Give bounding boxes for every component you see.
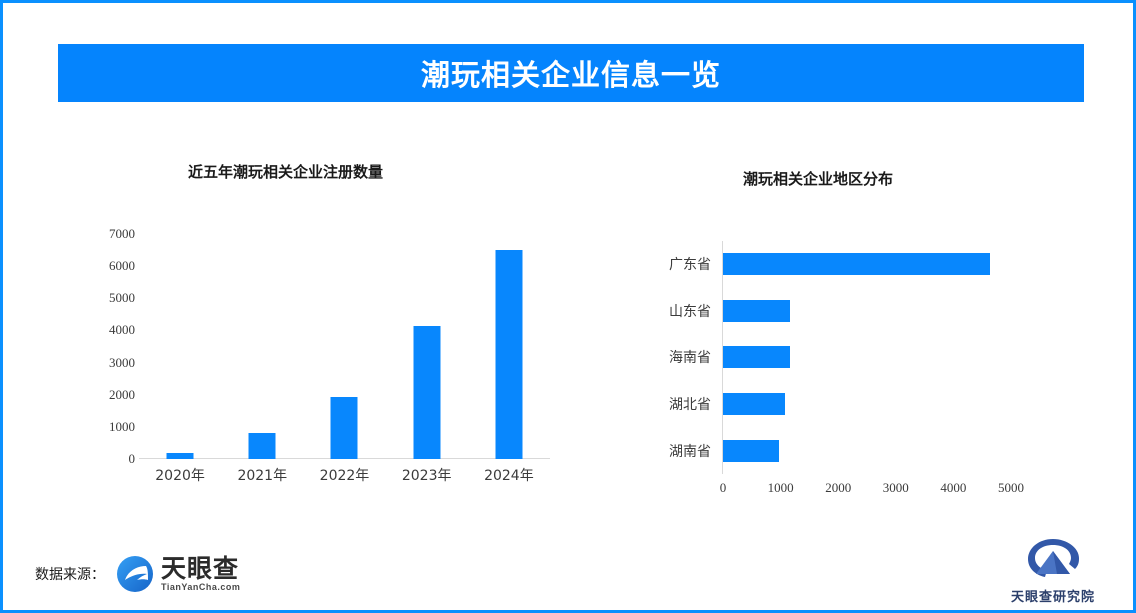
institute-logo: 天眼查研究院 [1005,537,1101,605]
bar-slot [468,234,550,459]
y-axis-tick-label: 3000 [83,355,135,371]
bar-slot [386,234,468,459]
y-axis-tick-label: 1000 [83,419,135,435]
data-source: 数据来源： 天眼查 TianYanCha.com [35,554,240,594]
bar-row: 海南省 [623,334,1083,381]
chart-registrations-title: 近五年潮玩相关企业注册数量 [188,161,383,182]
bar-row: 广东省 [623,241,1083,288]
y-axis-tick-label: 5000 [83,290,135,306]
chart-registrations-plot [139,234,550,459]
bar-湖北省 [723,393,785,415]
bar-2022年 [331,397,358,459]
tianyancha-eye-icon [115,554,155,594]
category-label-海南省: 海南省 [623,347,711,367]
bar-slot [303,234,385,459]
y-axis-tick-label: 7000 [83,226,135,242]
x-axis-tick-label: 2024年 [468,465,550,485]
x-axis-tick-label: 2022年 [303,465,385,485]
x-axis-tick-label: 5000 [998,480,1024,496]
x-axis-tick-label: 2021年 [221,465,303,485]
bar-2023年 [413,326,440,459]
x-axis-tick-label: 4000 [940,480,966,496]
bar-slot [139,234,221,459]
category-label-湖北省: 湖北省 [623,394,711,414]
x-axis-tick-label: 2000 [825,480,851,496]
infographic-page: 潮玩相关企业信息一览 近五年潮玩相关企业注册数量 700060005000400… [0,0,1136,613]
page-title: 潮玩相关企业信息一览 [421,52,721,94]
x-axis-tick-label: 1000 [768,480,794,496]
tianyancha-wordmark: 天眼查 TianYanCha.com [161,556,240,592]
chart-regional-distribution-title: 潮玩相关企业地区分布 [743,168,893,189]
x-axis-tick-label: 0 [720,480,727,496]
header-banner: 潮玩相关企业信息一览 [58,44,1084,102]
category-label-广东省: 广东省 [623,254,711,274]
bar-slot [221,234,303,459]
chart-registrations-y-axis: 70006000500040003000200010000 [73,143,135,503]
bar-row: 湖南省 [623,427,1083,474]
bar-row: 山东省 [623,288,1083,335]
institute-mountain-icon [1024,537,1082,579]
bar-海南省 [723,346,790,368]
tianyancha-logo: 天眼查 TianYanCha.com [115,554,240,594]
y-axis-tick-label: 6000 [83,258,135,274]
x-axis-tick-label: 2020年 [139,465,221,485]
chart-registrations: 近五年潮玩相关企业注册数量 70006000500040003000200010… [63,143,583,503]
tianyancha-domain: TianYanCha.com [161,583,240,592]
y-axis-tick-label: 4000 [83,322,135,338]
chart-regional-distribution: 潮玩相关企业地区分布 广东省山东省海南省湖北省湖南省01000200030004… [623,143,1083,503]
bar-广东省 [723,253,990,275]
bar-row: 湖北省 [623,381,1083,428]
y-axis-tick-label: 0 [83,451,135,467]
data-source-label: 数据来源： [35,564,105,584]
bar-湖南省 [723,440,779,462]
x-axis-tick-label: 2023年 [386,465,468,485]
category-label-湖南省: 湖南省 [623,441,711,461]
bar-山东省 [723,300,790,322]
y-axis-tick-label: 2000 [83,387,135,403]
x-axis-tick-label: 3000 [883,480,909,496]
category-label-山东省: 山东省 [623,301,711,321]
institute-name: 天眼查研究院 [1005,586,1101,605]
bar-2024年 [495,250,522,459]
tianyancha-name: 天眼查 [161,556,240,581]
bar-2021年 [249,433,276,459]
bar-2020年 [167,453,194,459]
